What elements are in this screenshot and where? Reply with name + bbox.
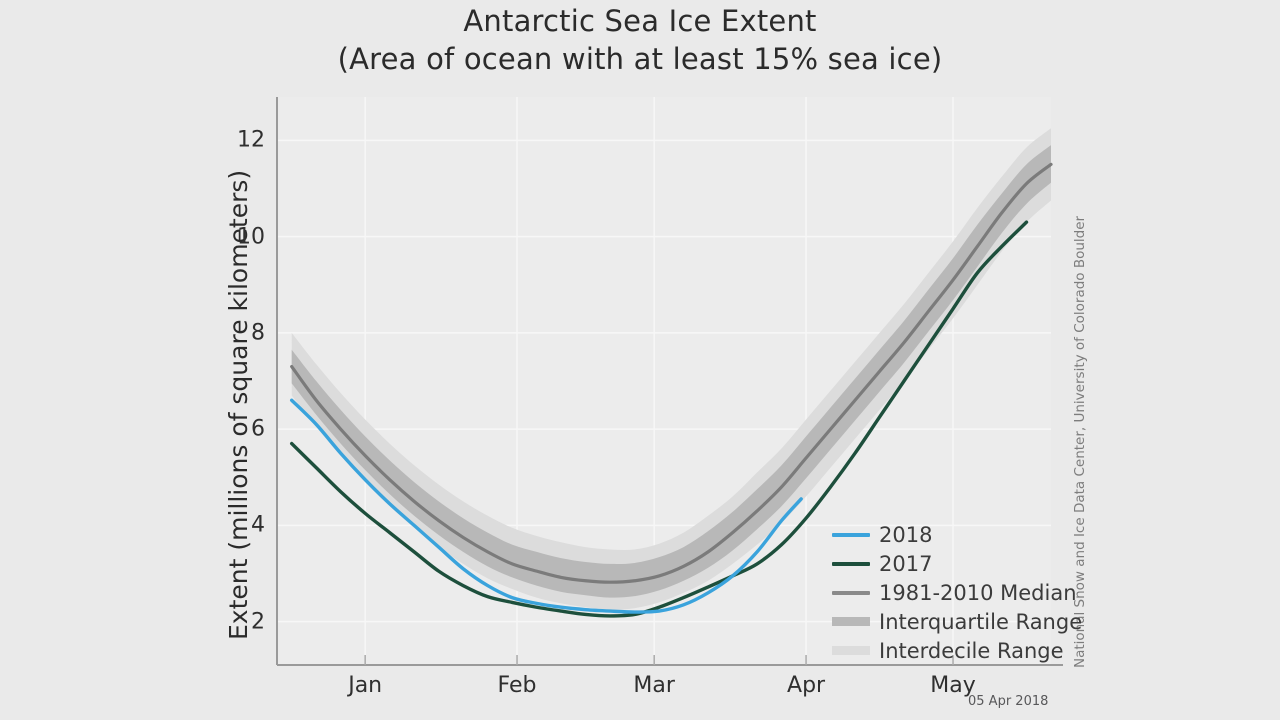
y-tick-label: 6 [215, 417, 265, 442]
legend-swatch-line-icon [832, 562, 870, 566]
y-tick-label: 12 [215, 128, 265, 153]
x-tick-label: Jan [348, 673, 382, 698]
legend-item[interactable]: Interdecile Range [832, 636, 1082, 665]
legend-item[interactable]: Interquartile Range [832, 607, 1082, 636]
legend-item[interactable]: 2017 [832, 549, 1082, 578]
chart-figure: Antarctic Sea Ice Extent (Area of ocean … [0, 0, 1280, 720]
x-tick-label: May [930, 673, 975, 698]
legend-item-label: 2017 [879, 552, 932, 576]
x-tick-label: Mar [633, 673, 675, 698]
y-tick-label: 2 [215, 609, 265, 634]
legend-item-label: 2018 [879, 523, 932, 547]
y-tick-label: 10 [215, 224, 265, 249]
y-tick-label: 8 [215, 320, 265, 345]
legend-swatch-band-icon [832, 617, 870, 626]
legend-swatch-band-icon [832, 646, 870, 655]
legend-item[interactable]: 1981-2010 Median [832, 578, 1082, 607]
legend-item[interactable]: 2018 [832, 520, 1082, 549]
legend-swatch-line-icon [832, 533, 870, 537]
legend-swatch-line-icon [832, 591, 870, 595]
x-tick-label: Feb [498, 673, 537, 698]
chart-legend: 201820171981-2010 MedianInterquartile Ra… [832, 520, 1082, 665]
legend-item-label: 1981-2010 Median [879, 581, 1077, 605]
legend-item-label: Interdecile Range [879, 639, 1064, 663]
x-tick-label: Apr [787, 673, 825, 698]
legend-item-label: Interquartile Range [879, 610, 1082, 634]
chart-plot-area [0, 0, 1280, 720]
y-tick-label: 4 [215, 513, 265, 538]
